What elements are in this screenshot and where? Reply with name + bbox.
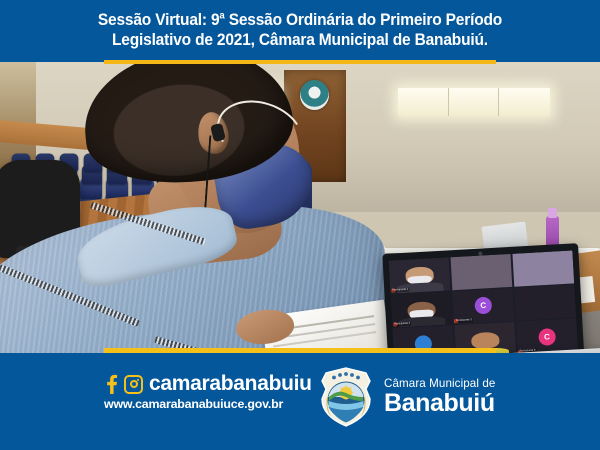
brand-text: Câmara Municipal de Banabuiú bbox=[384, 378, 495, 417]
video-tile[interactable] bbox=[512, 250, 574, 286]
video-tile[interactable]: Participante 2 bbox=[391, 291, 453, 327]
title-part-after: Sessão Ordinária do Primeiro Período bbox=[225, 11, 502, 29]
page-title-line-2: Legislativo de 2021, Câmara Municipal de… bbox=[112, 30, 488, 50]
social-media-card: Sessão Virtual: 9a Sessão Ordinária do P… bbox=[0, 0, 600, 450]
video-tile[interactable]: CParticipante 6 bbox=[516, 319, 578, 353]
social-handle-row: camarabanabuiu bbox=[104, 373, 314, 395]
brand-lockup: Câmara Municipal de Banabuiú bbox=[318, 367, 495, 427]
social-handle[interactable]: camarabanabuiu bbox=[149, 373, 312, 395]
laptop-lid: Participante 1Participante 2CParticipant… bbox=[382, 243, 584, 353]
title-part-before: Sessão Virtual: 9 bbox=[98, 11, 220, 29]
video-tile[interactable] bbox=[450, 254, 512, 290]
page-title-line-1: Sessão Virtual: 9a Sessão Ordinária do P… bbox=[98, 10, 502, 30]
instagram-icon[interactable] bbox=[124, 375, 143, 394]
laptop: Participante 1Participante 2CParticipant… bbox=[382, 242, 600, 353]
video-tile[interactable] bbox=[514, 285, 576, 321]
facebook-icon[interactable] bbox=[104, 374, 118, 394]
website-url[interactable]: www.camarabanabuiuce.gov.br bbox=[104, 397, 314, 411]
brand-subtitle: Câmara Municipal de bbox=[384, 378, 495, 390]
video-tile[interactable]: CParticipante 3 bbox=[452, 288, 514, 324]
footer-banner: camarabanabuiu www.camarabanabuiuce.gov.… bbox=[0, 353, 600, 450]
social-block: camarabanabuiu www.camarabanabuiuce.gov.… bbox=[104, 373, 314, 421]
header-banner: Sessão Virtual: 9a Sessão Ordinária do P… bbox=[0, 0, 600, 59]
video-call-grid: Participante 1Participante 2CParticipant… bbox=[389, 250, 578, 353]
gold-divider-bottom bbox=[104, 348, 496, 353]
participant-avatar: C bbox=[538, 328, 556, 346]
session-photo: Participante 1Participante 2CParticipant… bbox=[0, 62, 600, 353]
photo-scene: Participante 1Participante 2CParticipant… bbox=[0, 62, 600, 353]
participant-avatar: C bbox=[474, 297, 492, 315]
brasao-ceara-icon bbox=[318, 367, 374, 427]
gold-divider-top bbox=[104, 60, 496, 64]
brand-title: Banabuiú bbox=[384, 391, 495, 416]
participant-name: Participante 3 bbox=[455, 318, 473, 323]
video-tile[interactable]: Participante 1 bbox=[389, 257, 451, 293]
